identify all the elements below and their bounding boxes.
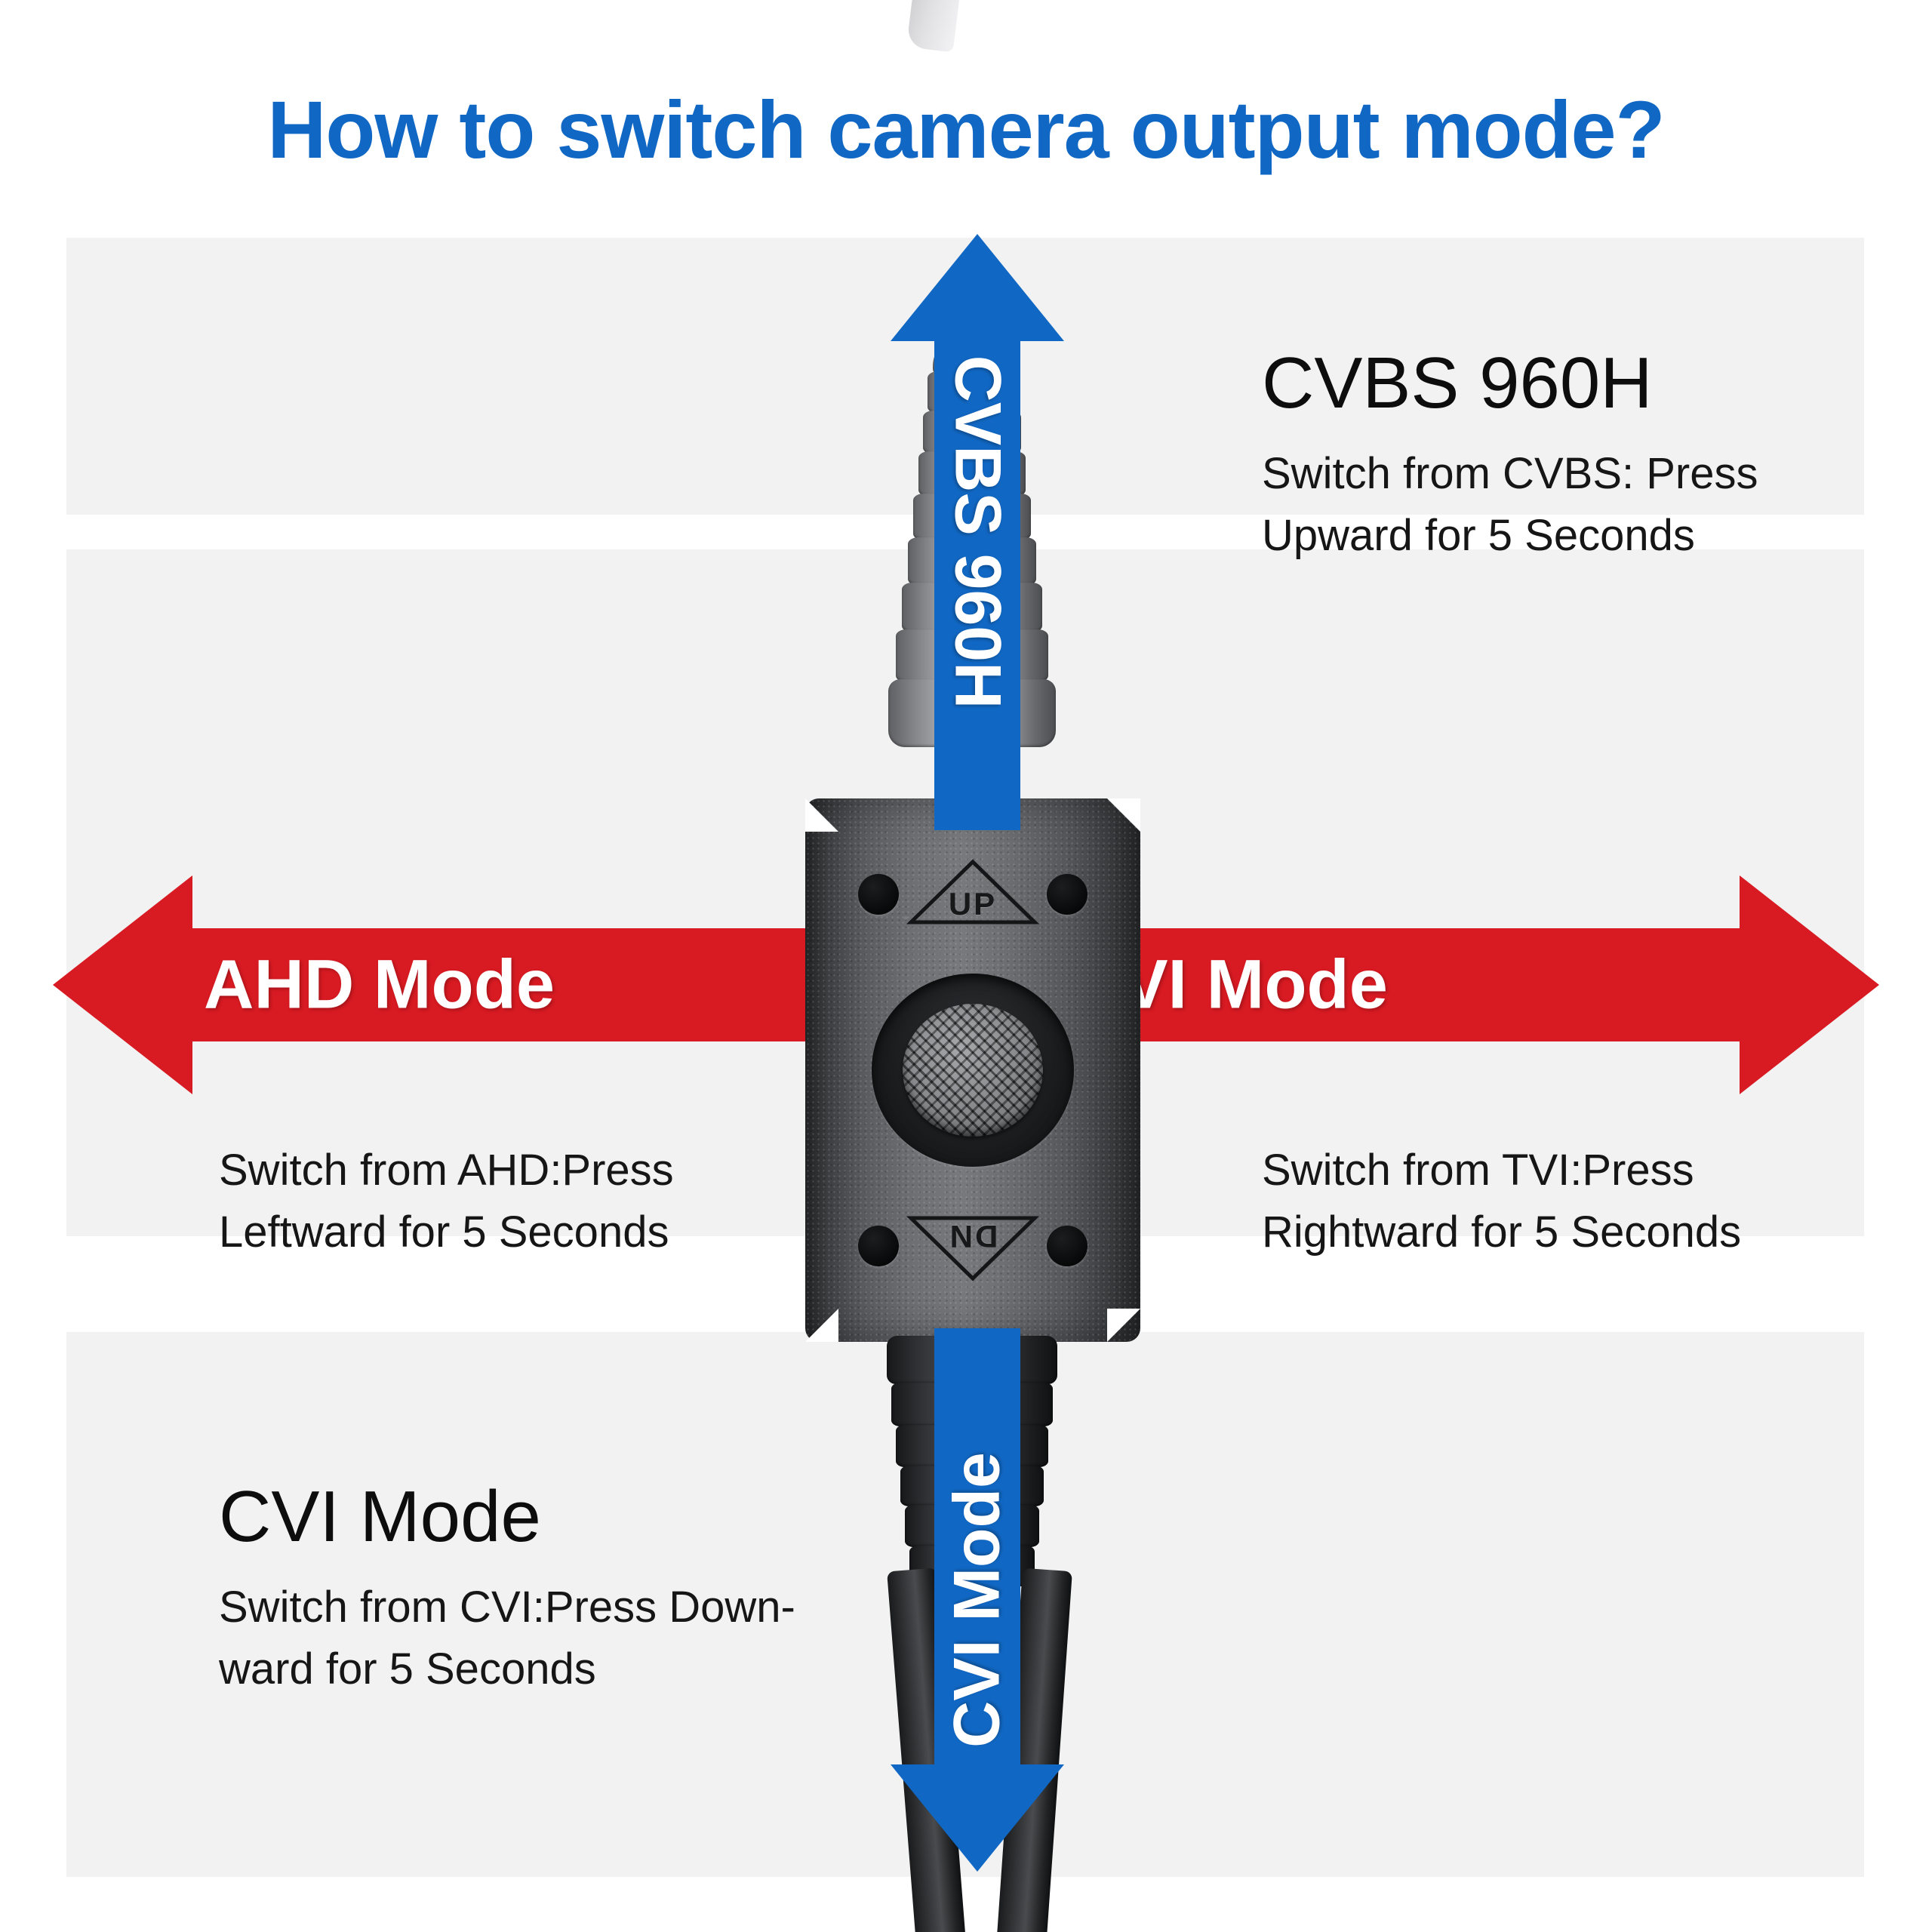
cvbs-heading: CVBS 960H: [1262, 346, 1835, 422]
ahd-line-2: Leftward for 5 Seconds: [219, 1201, 732, 1263]
up-marking-label: UP: [906, 886, 1039, 922]
screw-hole-bottom-right: [1047, 1226, 1088, 1266]
infographic-canvas: How to switch camera output mode? AHD Mo…: [0, 0, 1932, 1932]
text-block-tvi: Switch from TVI:Press Rightward for 5 Se…: [1262, 1140, 1835, 1264]
arrow-up-cvbs: CVBS 960H: [891, 234, 1064, 830]
switch-body: UP DN: [805, 798, 1140, 1342]
up-triangle-marking: UP: [906, 857, 1039, 927]
cvi-line-1: Switch from CVI:Press Down-: [219, 1577, 815, 1638]
joystick-button[interactable]: [903, 1004, 1043, 1137]
joystick-recess: [872, 974, 1074, 1167]
text-block-ahd: Switch from AHD:Press Leftward for 5 Sec…: [219, 1140, 732, 1264]
screw-hole-bottom-left: [858, 1226, 899, 1266]
cvi-heading: CVI Mode: [219, 1479, 815, 1555]
screw-hole-top-left: [858, 874, 899, 915]
tvi-line-2: Rightward for 5 Seconds: [1262, 1201, 1835, 1263]
arrow-up-label: CVBS 960H: [940, 355, 1015, 709]
cvbs-line-2: Upward for 5 Seconds: [1262, 505, 1835, 567]
dn-triangle-marking: DN: [906, 1214, 1039, 1283]
dn-marking-label: DN: [906, 1218, 1039, 1254]
top-wire-stub: [906, 0, 959, 53]
arrow-down-label: CVI Mode: [940, 1452, 1015, 1748]
text-block-cvi: CVI Mode Switch from CVI:Press Down- war…: [219, 1479, 815, 1701]
ahd-line-1: Switch from AHD:Press: [219, 1140, 732, 1201]
arrow-down-cvi: CVI Mode: [891, 1328, 1064, 1872]
arrow-left-label: AHD Mode: [204, 946, 555, 1025]
screw-hole-top-right: [1047, 874, 1088, 915]
tvi-line-1: Switch from TVI:Press: [1262, 1140, 1835, 1201]
text-block-cvbs: CVBS 960H Switch from CVBS: Press Upward…: [1262, 346, 1835, 568]
cvi-line-2: ward for 5 Seconds: [219, 1638, 815, 1700]
cvbs-line-1: Switch from CVBS: Press: [1262, 443, 1835, 505]
